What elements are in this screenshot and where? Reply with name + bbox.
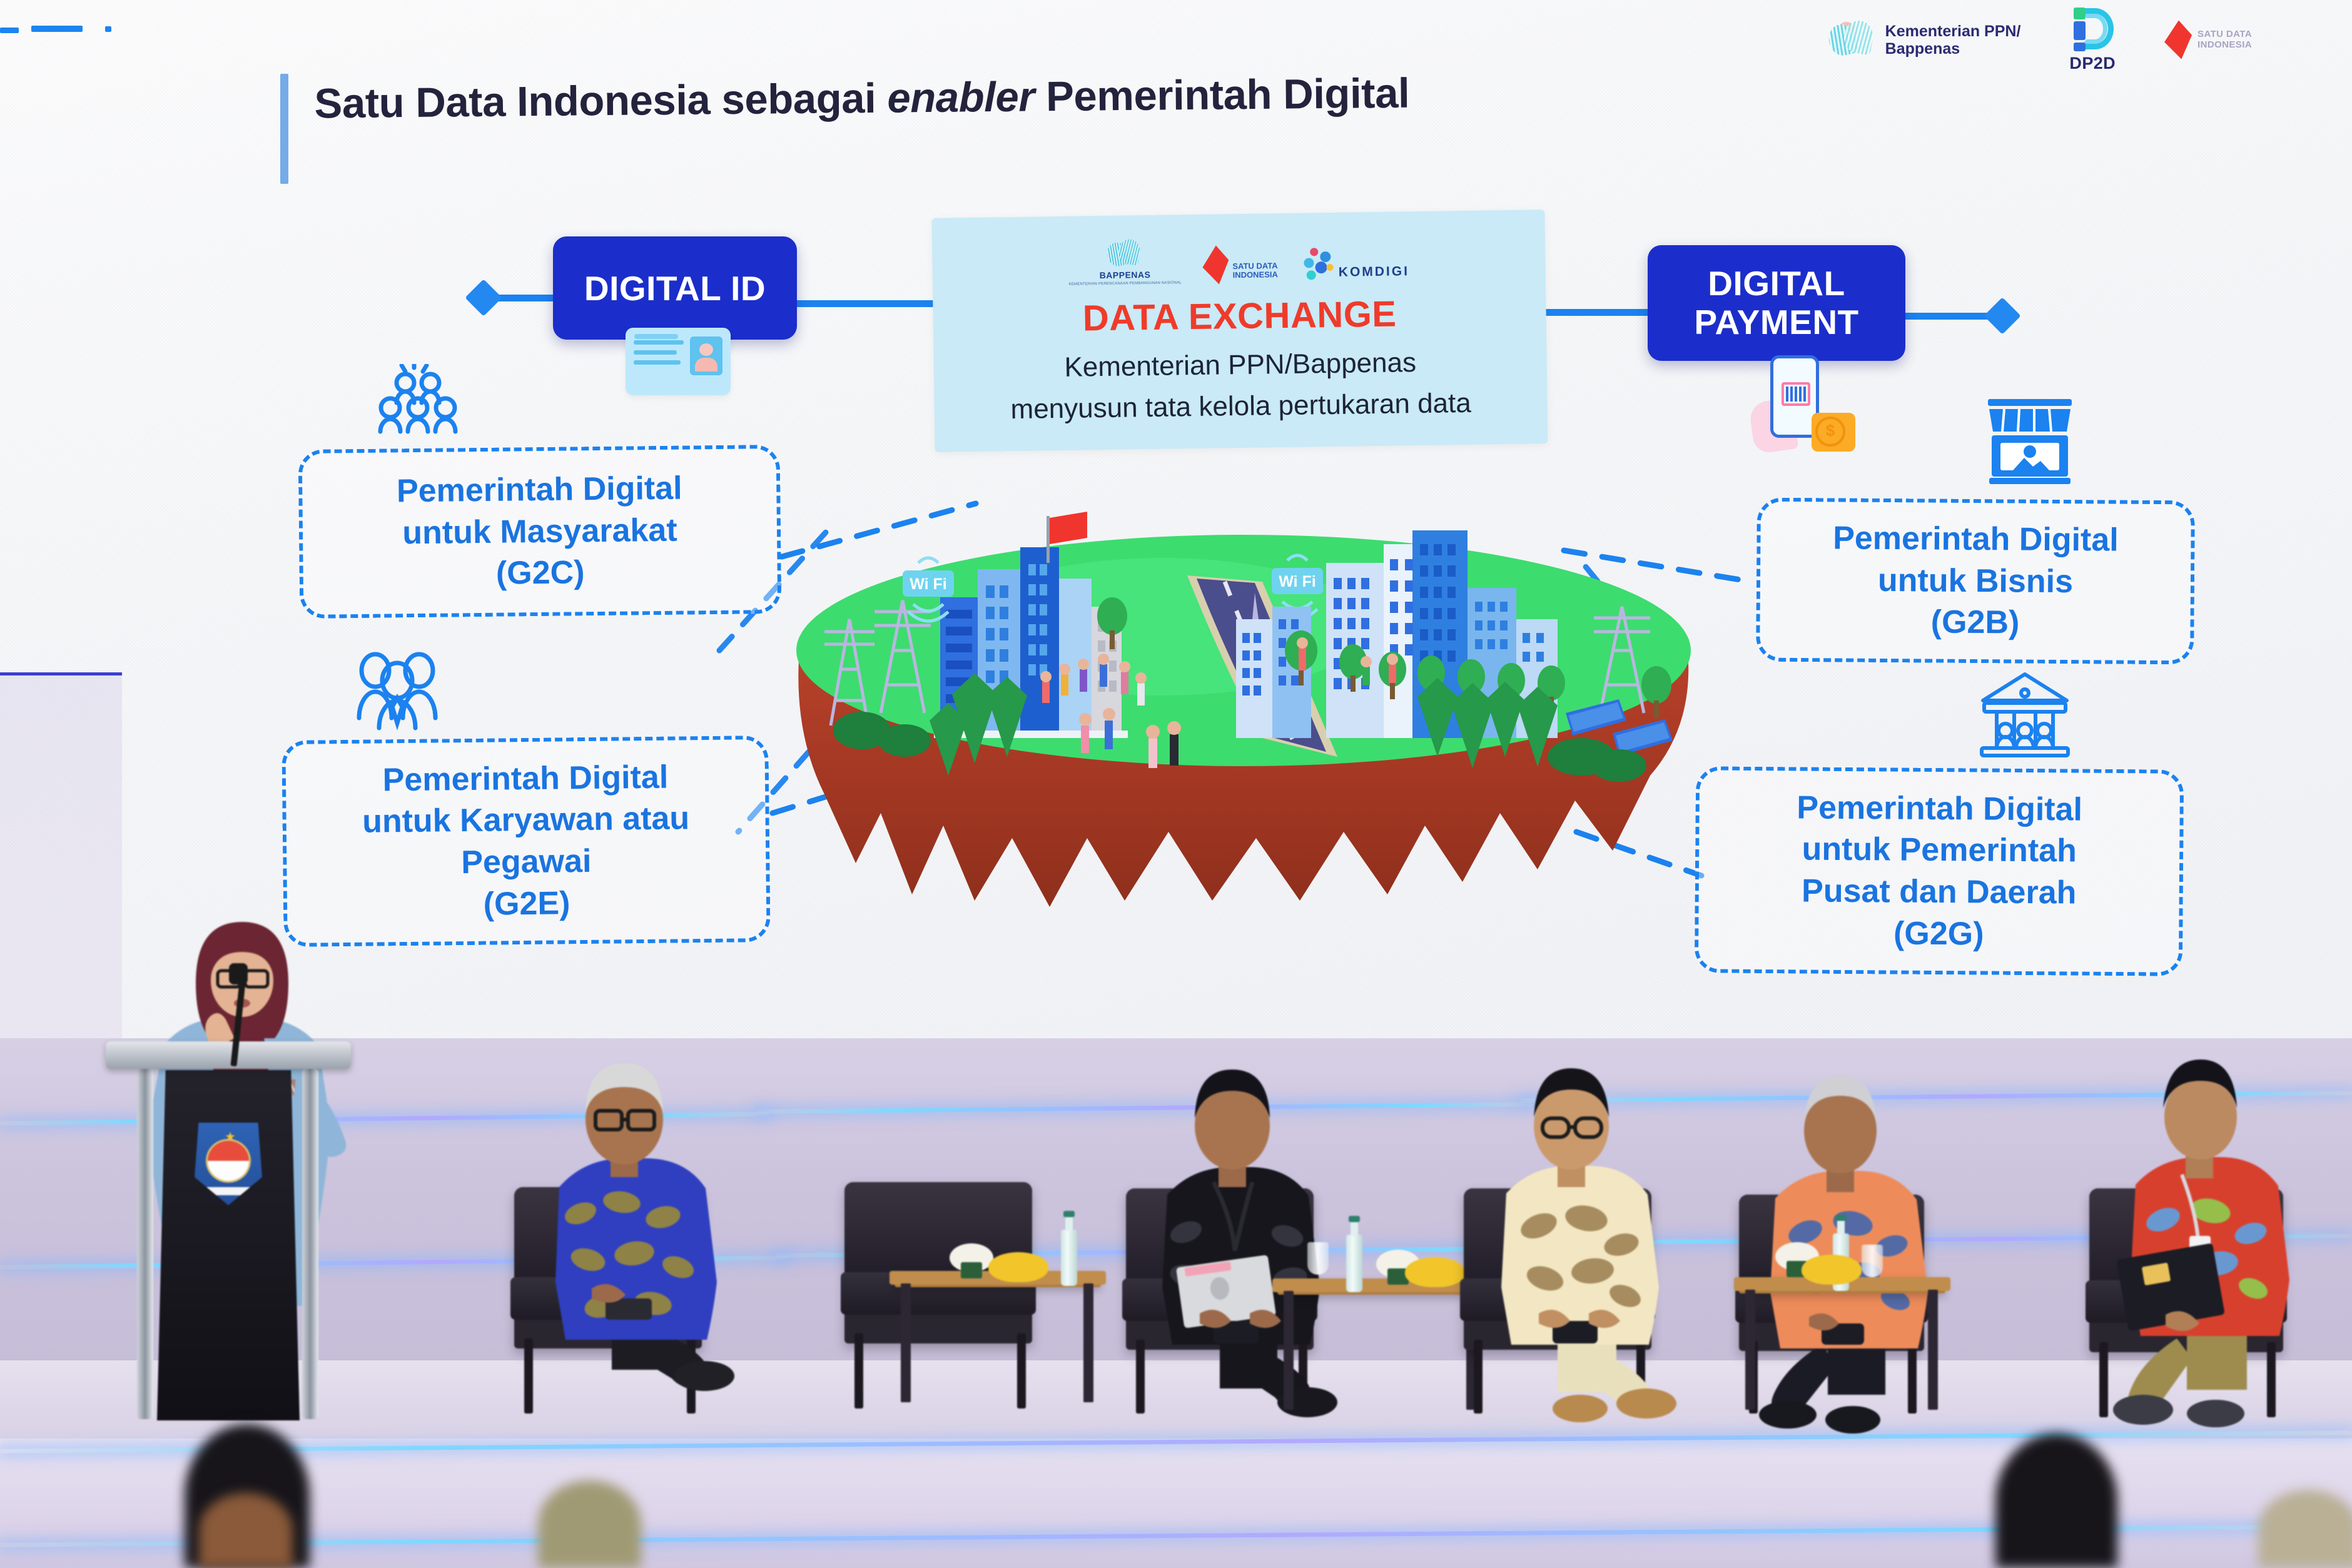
sdi-line1: SATU DATA [2197, 29, 2252, 40]
conference-stage-room: Kementerian PPN/ Bappenas DP2D SATU DATA… [0, 0, 2352, 1568]
callout-g2c-line1: Pemerintah Digital [397, 468, 682, 512]
callout-g2c-line3: (G2C) [397, 551, 683, 595]
svg-text:Wi Fi: Wi Fi [1279, 573, 1316, 590]
callout-g2e-line1: Pemerintah Digital [362, 756, 689, 801]
callout-g2b[interactable]: Pemerintah Digital untuk Bisnis (G2B) [1756, 498, 2195, 665]
title-part-1: Satu Data Indonesia sebagai [314, 75, 888, 128]
data-exchange-logo-row: BAPPENAS KEMENTERIAN PERENCANAAN PEMBANG… [1068, 228, 1409, 286]
qr-scan-icon [1782, 382, 1810, 406]
dx-logo-satu-data: SATU DATA INDONESIA [1202, 245, 1278, 285]
podium-top-surface [106, 1041, 351, 1069]
callout-g2c-line2: untuk Masyarakat [397, 509, 682, 554]
data-exchange-panel: BAPPENAS KEMENTERIAN PERENCANAAN PEMBANG… [931, 210, 1548, 452]
dx-bappenas-label: BAPPENAS [1100, 270, 1151, 280]
logo-kementerian-ppn-bappenas: Kementerian PPN/ Bappenas [1829, 21, 2021, 59]
svg-text:Wi Fi: Wi Fi [910, 575, 947, 593]
chair-leg [854, 1333, 863, 1409]
podium-rail-left [137, 1069, 153, 1419]
panelist-1-figure [505, 1026, 768, 1426]
mango-decor [1802, 1255, 1862, 1285]
dx-logo-komdigi: KOMDIGI [1299, 246, 1409, 283]
id-card-icon [626, 328, 731, 395]
chair-leg [1017, 1333, 1026, 1409]
drinking-glass [1307, 1242, 1329, 1275]
callout-g2b-line2: untuk Bisnis [1832, 559, 2118, 603]
data-exchange-line1: Kementerian PPN/Bappenas [1064, 347, 1416, 383]
audience-head [538, 1480, 641, 1568]
digital-id-label: DIGITAL ID [584, 268, 766, 308]
audience-head [2258, 1490, 2352, 1568]
group-of-people-icon [373, 364, 467, 443]
water-bottle [1061, 1230, 1077, 1286]
digital-payment-line1: DIGITAL [1708, 264, 1845, 303]
digital-payment-pill[interactable]: DIGITAL PAYMENT [1648, 245, 1905, 361]
title-part-2: Pemerintah Digital [1035, 70, 1410, 121]
storefront-icon [1983, 398, 2077, 485]
panelist-4-figure [1728, 1044, 1978, 1445]
coin-stack-icon [1812, 413, 1855, 452]
data-exchange-title: DATA EXCHANGE [1082, 293, 1397, 340]
bappenas-mark-icon [1107, 239, 1143, 268]
callout-g2c[interactable]: Pemerintah Digital untuk Masyarakat (G2C… [298, 445, 782, 619]
bappenas-logo-text: Kementerian PPN/ Bappenas [1885, 23, 2021, 58]
bappenas-line2: Bappenas [1885, 40, 2021, 58]
audience-head [199, 1493, 293, 1568]
callout-g2g[interactable]: Pemerintah Digital untuk Pemerintah Pusa… [1695, 766, 2184, 976]
logo-dp2d: DP2D [2069, 6, 2116, 73]
dx-logo-bappenas: BAPPENAS KEMENTERIAN PERENCANAAN PEMBANG… [1068, 238, 1182, 286]
flower-arrangement [950, 1243, 993, 1272]
callout-g2e-line3: Pegawai [362, 839, 690, 884]
satu-data-mark-icon [1202, 245, 1229, 285]
title-italic-word: enabler [887, 73, 1035, 121]
mango-decor [1405, 1257, 1465, 1287]
sdi-line2: INDONESIA [2197, 40, 2252, 51]
dx-sdi-line2: INDONESIA [1233, 271, 1278, 281]
podium: ★ [134, 1041, 322, 1442]
callout-g2b-line3: (G2B) [1832, 601, 2118, 645]
digital-payment-label: DIGITAL PAYMENT [1694, 265, 1858, 341]
satu-data-mark-icon [2164, 21, 2192, 59]
bappenas-line1: Kementerian PPN/ [1885, 23, 2021, 40]
projection-screen: Kementerian PPN/ Bappenas DP2D SATU DATA… [0, 0, 2352, 1038]
callout-g2c-text: Pemerintah Digital untuk Masyarakat (G2C… [397, 468, 684, 595]
title-accent-bar [280, 74, 288, 184]
satu-data-logo-text: SATU DATA INDONESIA [2197, 29, 2252, 50]
dx-sdi-text: SATU DATA INDONESIA [1232, 261, 1278, 284]
audience-head [1995, 1434, 2117, 1568]
smart-city-island-illustration: Wi Fi Wi Fi [787, 463, 1700, 919]
komdigi-mark-icon [1299, 248, 1334, 283]
digital-id-pill[interactable]: DIGITAL ID [553, 236, 797, 340]
callout-g2e-line4: (G2E) [363, 881, 691, 926]
podium-rail-right [302, 1069, 318, 1419]
mango-decor [988, 1252, 1048, 1282]
bappenas-mark-icon [1829, 21, 1875, 59]
callout-g2e-text: Pemerintah Digital untuk Karyawan atau P… [362, 756, 691, 926]
table-leg [1284, 1291, 1294, 1410]
slide-title-block: Satu Data Indonesia sebagai enabler Peme… [280, 74, 1410, 184]
page-title: Satu Data Indonesia sebagai enabler Peme… [314, 69, 1410, 190]
panelist-3-figure [1457, 1038, 1708, 1451]
callout-g2e[interactable]: Pemerintah Digital untuk Karyawan atau P… [281, 736, 770, 947]
table-leg [901, 1283, 911, 1402]
callout-g2b-text: Pemerintah Digital untuk Bisnis (G2B) [1832, 518, 2119, 645]
logo-satu-data-indonesia: SATU DATA INDONESIA [2164, 21, 2252, 59]
callout-g2e-line2: untuk Karyawan atau [362, 798, 690, 843]
water-bottle [1346, 1235, 1362, 1292]
garuda-shield-icon [206, 1139, 251, 1183]
employees-icon [350, 649, 444, 731]
table-leg [1745, 1290, 1755, 1410]
dp2d-mark-icon [2070, 6, 2115, 53]
table-leg [1083, 1283, 1093, 1402]
digital-payment-line2: PAYMENT [1694, 303, 1858, 341]
panelist-5-figure [2083, 1032, 2346, 1451]
data-exchange-line2: menyusun tata kelola pertukaran data [1010, 388, 1471, 425]
dx-bappenas-sublabel: KEMENTERIAN PERENCANAAN PEMBANGUNAN NASI… [1069, 281, 1182, 286]
dp2d-label: DP2D [2069, 54, 2116, 73]
callout-g2g-text: Pemerintah Digital untuk Pemerintah Pusa… [1796, 787, 2082, 955]
panelist-2-figure [1120, 1038, 1370, 1439]
callout-g2g-line4: (G2G) [1796, 912, 2082, 956]
callout-g2g-line3: Pusat dan Daerah [1796, 870, 2082, 914]
table-leg [1928, 1290, 1938, 1410]
id-card-lines [634, 336, 684, 387]
header-logo-row: Kementerian PPN/ Bappenas DP2D SATU DATA… [1829, 6, 2252, 73]
callout-g2g-line1: Pemerintah Digital [1797, 787, 2082, 831]
mobile-payment-icon [1751, 355, 1883, 465]
drinking-glass [1862, 1245, 1883, 1277]
callout-g2b-line1: Pemerintah Digital [1833, 518, 2119, 562]
callout-g2g-line2: untuk Pemerintah [1797, 829, 2082, 873]
id-card-portrait [690, 336, 722, 375]
dx-komdigi-label: KOMDIGI [1339, 264, 1410, 283]
government-building-icon [1975, 670, 2074, 758]
